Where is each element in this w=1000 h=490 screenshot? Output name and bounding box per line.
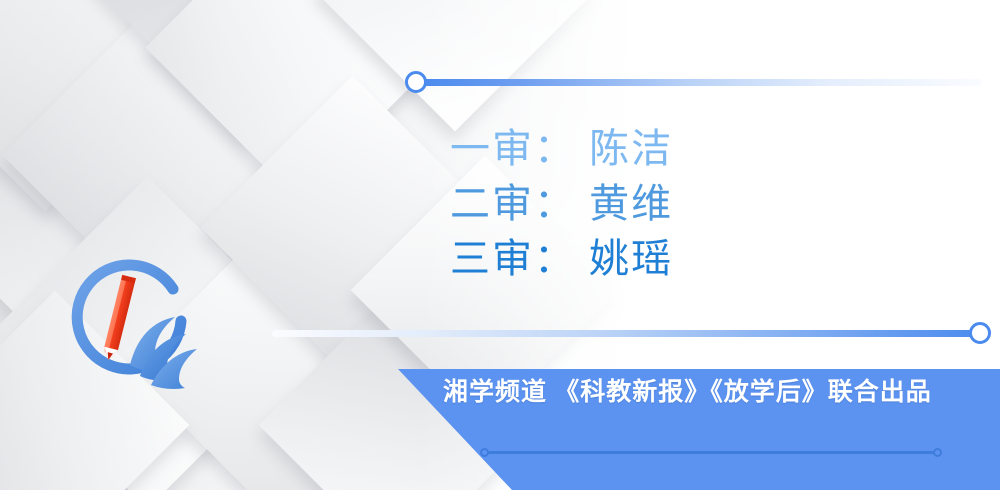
top-connector-line	[422, 79, 982, 86]
bottom-connector-line	[272, 330, 982, 337]
credit-line-first-review: 一审： 陈洁	[450, 122, 673, 177]
end-card-screen: 一审： 陈洁 二审： 黄维 三审： 姚瑶 湘学频道 《科教新报》《放学后》联合出…	[0, 0, 1000, 490]
banner-inner-line	[484, 451, 937, 454]
top-connector-knob-icon	[405, 71, 427, 93]
banner-inner-knob-right-icon	[933, 448, 942, 457]
credits-block: 一审： 陈洁 二审： 黄维 三审： 姚瑶	[450, 122, 673, 287]
banner-inner-knob-left-icon	[480, 448, 489, 457]
credit-line-second-review: 二审： 黄维	[450, 177, 673, 232]
credit-line-third-review: 三审： 姚瑶	[450, 232, 673, 287]
banner-credit-text: 湘学频道 《科教新报》《放学后》联合出品	[443, 374, 932, 412]
publisher-logo	[55, 249, 217, 411]
bottom-connector-knob-icon	[969, 322, 991, 344]
pencil-book-circle-logo-icon	[55, 249, 217, 411]
